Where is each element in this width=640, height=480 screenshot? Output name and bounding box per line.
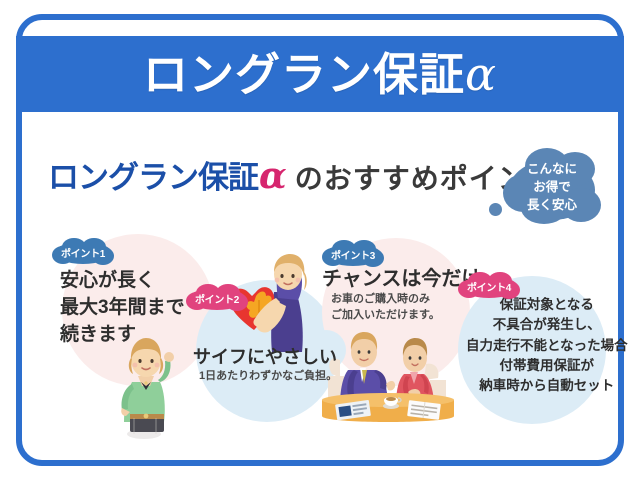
point-1-heading: 安心が長く最大3年間まで続きます	[60, 268, 185, 349]
point-3-subtext: お車のご購入時のみご加入いただけます。	[331, 292, 440, 324]
couple-at-table-illustration	[318, 322, 458, 428]
page-title: ロングラン保証α	[143, 51, 497, 97]
page-title-main: ロングラン保証	[143, 49, 465, 100]
title-band: ロングラン保証α	[16, 36, 624, 112]
bubble-line-3: 長く安心	[527, 196, 577, 214]
thought-bubble-dot-icon	[489, 203, 502, 216]
point-2-heading: サイフにやさしい	[193, 345, 337, 371]
point-4-badge-label: ポイント4	[458, 272, 520, 300]
thought-bubble-text: こんなに お得で 長く安心	[503, 148, 601, 226]
page-title-alpha: α	[465, 47, 497, 101]
subtitle: ロングラン保証 α のおすすめポイント	[48, 152, 556, 197]
bubble-line-1: こんなに	[527, 160, 577, 178]
point-4-badge: ポイント4	[458, 272, 520, 300]
point-3-badge: ポイント3	[322, 240, 384, 268]
point-3-badge-label: ポイント3	[322, 240, 384, 268]
subtitle-brand: ロングラン保証	[48, 152, 258, 197]
point-2-subtext: 1日あたりわずかなご負担。	[199, 369, 337, 385]
thought-bubble: こんなに お得で 長く安心	[503, 148, 601, 226]
advertisement-screen: ロングラン保証α ロングラン保証 α のおすすめポイント こんなに お得で 長く…	[0, 0, 640, 480]
point-4-heading: 保証対象となる不具合が発生し、自力走行不能となった場合付帯費用保証が納車時から自…	[466, 295, 628, 396]
point-2-badge-label: ポイント2	[186, 284, 248, 312]
point-1-badge: ポイント1	[52, 238, 114, 266]
subtitle-alpha: α	[259, 155, 287, 197]
point-1-badge-label: ポイント1	[52, 238, 114, 266]
bubble-line-2: お得で	[533, 178, 571, 196]
point-2-badge: ポイント2	[186, 284, 248, 312]
